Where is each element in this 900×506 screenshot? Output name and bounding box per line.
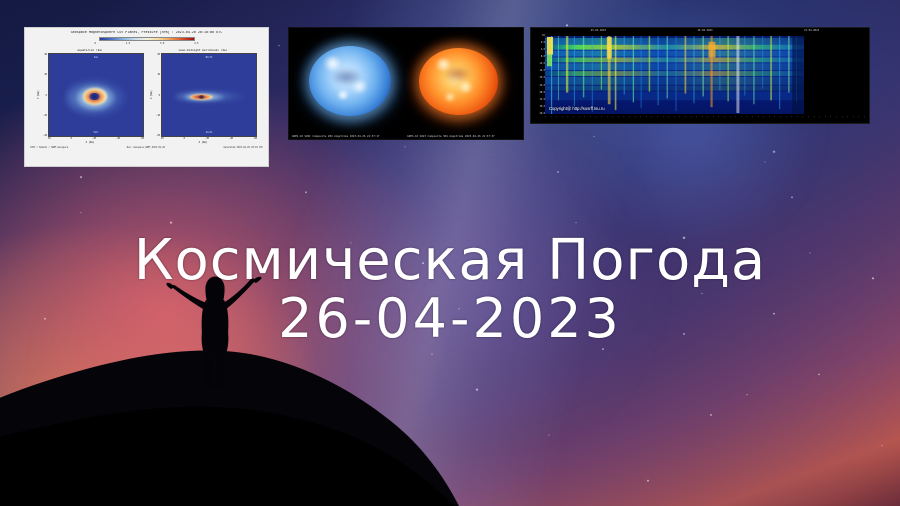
spectrogram-xtick: | bbox=[718, 116, 719, 122]
mxt1: 0 bbox=[184, 137, 185, 140]
spectrogram-xtick: | bbox=[836, 116, 837, 122]
spectrogram-xtick: | bbox=[601, 116, 602, 122]
spectrogram-xtick: | bbox=[791, 116, 792, 122]
panel-solar-suvi-images[interactable]: GOES-16 SUVI Composite 284 Angstroms 202… bbox=[288, 27, 524, 140]
myt2: 0 bbox=[154, 94, 160, 97]
spectrogram-copyright: Copyright@ http://sosrff.tsu.ru bbox=[549, 106, 605, 111]
cbar-tick-2: 3.0 bbox=[160, 42, 164, 45]
xt4: -60 bbox=[140, 137, 144, 140]
spec-date-2: 27.04.2023 bbox=[804, 29, 819, 32]
myt4: -20 bbox=[154, 134, 160, 137]
cbar-tick-3: 4.5 bbox=[194, 42, 198, 45]
spectrogram-xtick: | bbox=[735, 116, 736, 122]
subplot-meridional-xlabel: X [Re] bbox=[149, 141, 257, 144]
spectrogram-xtick: | bbox=[858, 116, 859, 122]
spectrogram-xtick: | bbox=[769, 116, 770, 122]
spectrogram-plot-frame bbox=[545, 36, 865, 114]
subplot-equatorial-plot-area: Sun Tail bbox=[48, 53, 144, 137]
subplot-meridional: noon-midnight meridional (2e) Z [Re] 20 … bbox=[149, 48, 257, 144]
spectrogram-xtick: | bbox=[579, 116, 580, 122]
xt0: 20 bbox=[48, 137, 51, 140]
spectrogram-xtick: | bbox=[629, 116, 630, 122]
xt2: -20 bbox=[92, 137, 96, 140]
subplot-meridional-title: noon-midnight meridional (2e) bbox=[149, 48, 257, 52]
spectrogram-xtick: | bbox=[646, 116, 647, 122]
spectrogram-xtick: | bbox=[808, 116, 809, 122]
spectrogram-xtick: | bbox=[640, 116, 641, 122]
panel-ionospheric-spectrogram[interactable]: 25.04.2023 26.04.2023 27.04.2023 Hz 0.0 … bbox=[530, 27, 870, 124]
spectrogram-xtick: | bbox=[573, 116, 574, 122]
spectrogram-xticks: ||||||||||||||||||||||||||||||||||||||||… bbox=[545, 116, 865, 122]
footer-center: Run: Geospace_SWMF_2023-04-26 bbox=[127, 146, 165, 149]
spectrogram-date-labels: 25.04.2023 26.04.2023 27.04.2023 bbox=[545, 29, 865, 32]
spectrogram-yticks: Hz 0.0 4.0 8.0 12.0 16.0 20.0 24.0 28.0 … bbox=[533, 34, 545, 115]
magnetosphere-colorbar bbox=[99, 37, 195, 41]
sun-right-caption: GOES-16 SUVI Composite 304 Angstroms 202… bbox=[407, 135, 494, 138]
sun-left-caption: GOES-16 SUVI Composite 284 Angstroms 202… bbox=[292, 135, 379, 138]
spectrogram-xtick: | bbox=[551, 116, 552, 122]
spectrogram-xtick: | bbox=[651, 116, 652, 122]
footer-left: CCMC / Kamodo / SWMF-Geospace bbox=[30, 146, 68, 149]
spectrogram-xtick: | bbox=[679, 116, 680, 122]
spectrogram-xtick: | bbox=[612, 116, 613, 122]
yt4: -40 bbox=[41, 134, 47, 137]
label-tail: Tail bbox=[93, 131, 98, 134]
subplot-meridional-plot-area: North South bbox=[161, 53, 257, 137]
spectrogram-xtick: | bbox=[797, 116, 798, 122]
label-north: North bbox=[206, 56, 213, 59]
spectrogram-xtick: | bbox=[741, 116, 742, 122]
myt0: 20 bbox=[154, 53, 160, 56]
mxt3: -40 bbox=[229, 137, 233, 140]
spectrogram-xtick: | bbox=[763, 116, 764, 122]
spectrogram-xtick: | bbox=[545, 116, 546, 122]
spectrogram-heatmap bbox=[545, 36, 804, 114]
magnetosphere-title: Geospace Magnetosphere Cut Planes, Press… bbox=[29, 31, 264, 35]
spectrogram-xtick: | bbox=[774, 116, 775, 122]
spectrogram-xtick: | bbox=[853, 116, 854, 122]
spectrogram-xtick: | bbox=[825, 116, 826, 122]
mxt4: -60 bbox=[253, 137, 257, 140]
subplot-equatorial-yticks: 40 20 0 -20 -40 bbox=[41, 53, 48, 137]
sun-coronal-hole-blue bbox=[331, 68, 361, 86]
spectrogram-xtick: | bbox=[635, 116, 636, 122]
spectrogram-xtick: | bbox=[662, 116, 663, 122]
spectrogram-xtick: | bbox=[780, 116, 781, 122]
spectrogram-xtick: | bbox=[696, 116, 697, 122]
label-south: South bbox=[206, 131, 213, 134]
subplot-equatorial-xlabel: X [Re] bbox=[36, 141, 144, 144]
person-silhouette-icon bbox=[160, 262, 270, 397]
xt3: -40 bbox=[116, 137, 120, 140]
subplot-equatorial-ylabel: Y [Re] bbox=[36, 53, 41, 137]
pressure-inner-cold bbox=[89, 93, 99, 100]
magnetosphere-subplots: equatorial (2e) Y [Re] 40 20 0 -20 -40 S… bbox=[29, 48, 264, 144]
spectrogram-xtick: | bbox=[657, 116, 658, 122]
spectrogram-xtick: | bbox=[595, 116, 596, 122]
spectrogram-xtick: | bbox=[847, 116, 848, 122]
subplot-equatorial: equatorial (2e) Y [Re] 40 20 0 -20 -40 S… bbox=[36, 48, 144, 144]
cbar-tick-1: 1.5 bbox=[126, 42, 130, 45]
magnetosphere-colorbar-ticks: 0 1.5 3.0 4.5 bbox=[95, 42, 199, 45]
spectrogram-xtick: | bbox=[674, 116, 675, 122]
spectrogram-xtick: | bbox=[707, 116, 708, 122]
spec-date-1: 26.04.2023 bbox=[697, 29, 712, 32]
spectrogram-xtick: | bbox=[556, 116, 557, 122]
xt1: 0 bbox=[71, 137, 72, 140]
spectrogram-xtick: | bbox=[618, 116, 619, 122]
spectrogram-xtick: | bbox=[814, 116, 815, 122]
subplot-meridional-ylabel: Z [Re] bbox=[149, 53, 154, 137]
yt1: 20 bbox=[41, 73, 47, 76]
sun-filament-orange bbox=[443, 66, 471, 83]
spectrogram-xtick: | bbox=[690, 116, 691, 122]
footer-right: Generated 2023-04-26 20:10 UTC bbox=[223, 146, 263, 149]
spectrogram-xtick: | bbox=[607, 116, 608, 122]
spectrogram-xtick: | bbox=[590, 116, 591, 122]
mxt0: 20 bbox=[161, 137, 164, 140]
spectrogram-xtick: | bbox=[830, 116, 831, 122]
yt2: 0 bbox=[41, 94, 47, 97]
sun-image-row: GOES-16 SUVI Composite 284 Angstroms 202… bbox=[289, 28, 523, 139]
spectrogram-xtick: | bbox=[685, 116, 686, 122]
spectrogram-xtick: | bbox=[819, 116, 820, 122]
spectrogram-xtick: | bbox=[567, 116, 568, 122]
label-sun: Sun bbox=[94, 56, 98, 59]
sun-active-region-blue-3 bbox=[336, 90, 350, 100]
space-weather-banner: Geospace Magnetosphere Cut Planes, Press… bbox=[0, 0, 900, 506]
spectrogram-xtick: | bbox=[758, 116, 759, 122]
spectrogram-xtick: | bbox=[623, 116, 624, 122]
spectrogram-xtick: | bbox=[802, 116, 803, 122]
spectrogram-xtick: | bbox=[562, 116, 563, 122]
yt3: -20 bbox=[41, 114, 47, 117]
meridional-inner-cold bbox=[198, 95, 206, 99]
spectrogram-xtick: | bbox=[730, 116, 731, 122]
mxt2: -20 bbox=[205, 137, 209, 140]
magnetosphere-footer: CCMC / Kamodo / SWMF-Geospace Run: Geosp… bbox=[29, 146, 264, 149]
spectrogram-xtick: | bbox=[752, 116, 753, 122]
myt1: 10 bbox=[154, 73, 160, 76]
spectrogram-xtick: | bbox=[786, 116, 787, 122]
subplot-equatorial-title: equatorial (2e) bbox=[36, 48, 144, 52]
myt3: -10 bbox=[154, 114, 160, 117]
panel-magnetosphere-cut-planes[interactable]: Geospace Magnetosphere Cut Planes, Press… bbox=[24, 27, 269, 167]
yt0: 40 bbox=[41, 53, 47, 56]
spectrogram-xtick: | bbox=[746, 116, 747, 122]
spectrogram-xtick: | bbox=[584, 116, 585, 122]
spectrogram-xtick: | bbox=[841, 116, 842, 122]
cbar-tick-0: 0 bbox=[95, 42, 96, 45]
spectrogram-xtick: | bbox=[864, 116, 865, 122]
spectrogram-xtick: | bbox=[713, 116, 714, 122]
subplot-meridional-yticks: 20 10 0 -10 -20 bbox=[154, 53, 161, 137]
spec-date-0: 25.04.2023 bbox=[591, 29, 606, 32]
spectrogram-xtick: | bbox=[668, 116, 669, 122]
spectrogram-xtick: | bbox=[724, 116, 725, 122]
spectrogram-xtick: | bbox=[702, 116, 703, 122]
